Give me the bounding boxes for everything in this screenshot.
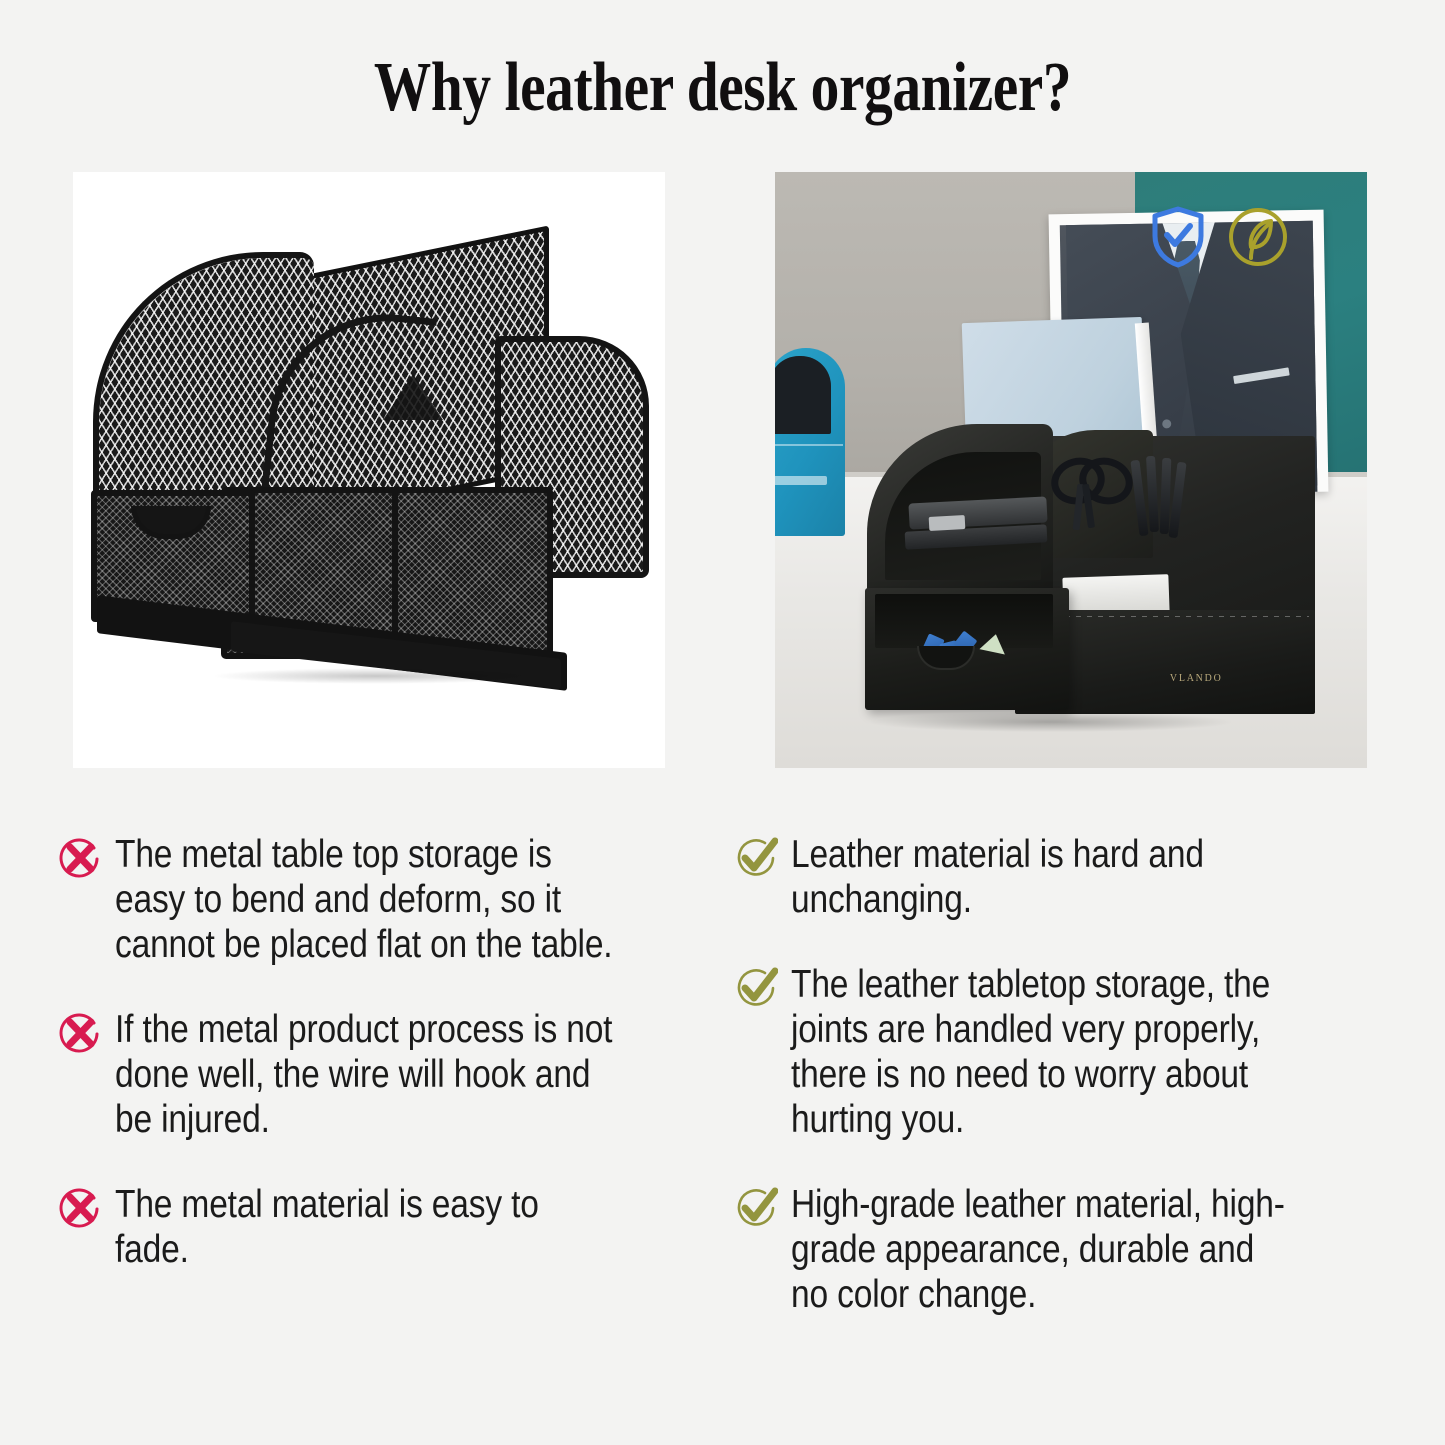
secondary-teal-organizer bbox=[775, 348, 845, 536]
check-icon bbox=[734, 1186, 778, 1230]
leather-organizer-scene: VLANDO bbox=[775, 172, 1367, 768]
mesh-shadow bbox=[211, 668, 541, 684]
pen bbox=[1168, 462, 1186, 539]
cross-icon bbox=[58, 1186, 102, 1230]
list-item-text: The metal material is easy to fade. bbox=[115, 1182, 616, 1272]
organizer-shadow bbox=[871, 712, 1231, 732]
cross-icon bbox=[58, 836, 102, 880]
check-icon bbox=[734, 966, 778, 1010]
cons-column: The metal table top storage is easy to b… bbox=[58, 832, 698, 1312]
list-item-text: The leather tabletop storage, the joints… bbox=[791, 962, 1292, 1142]
pens-group bbox=[1135, 456, 1191, 534]
list-item: The metal table top storage is easy to b… bbox=[58, 832, 698, 967]
stapler-staples bbox=[929, 515, 966, 531]
mesh-drawer-handle-notch bbox=[131, 506, 211, 539]
list-item: The leather tabletop storage, the joints… bbox=[734, 962, 1374, 1142]
leather-organizer: VLANDO bbox=[867, 424, 1315, 724]
list-item-text: If the metal product process is not done… bbox=[115, 1007, 616, 1142]
teal-organizer-brand-emboss bbox=[775, 476, 827, 485]
leaf-eco-badge-icon bbox=[1227, 206, 1289, 268]
list-item: If the metal product process is not done… bbox=[58, 1007, 698, 1142]
page-title: Why leather desk organizer? bbox=[130, 46, 1315, 130]
organizer-drawer bbox=[865, 588, 1069, 710]
list-item: Leather material is hard and unchanging. bbox=[734, 832, 1374, 922]
shield-check-badge-icon bbox=[1150, 206, 1206, 268]
mesh-organizer-scene bbox=[73, 172, 665, 768]
teal-organizer-seam bbox=[775, 444, 843, 446]
list-item: High-grade leather material, high-grade … bbox=[734, 1182, 1374, 1317]
organizer-brand-emboss: VLANDO bbox=[1170, 672, 1223, 684]
list-item: The metal material is easy to fade. bbox=[58, 1182, 698, 1272]
comparison-columns: The metal table top storage is easy to b… bbox=[0, 832, 1445, 1392]
product-image-metal-mesh-organizer bbox=[73, 172, 665, 768]
mesh-organizer-illustration bbox=[91, 232, 647, 702]
pros-column: Leather material is hard and unchanging.… bbox=[734, 832, 1374, 1357]
teal-organizer-interior bbox=[775, 356, 831, 434]
product-image-leather-organizer: VLANDO bbox=[775, 172, 1367, 768]
list-item-text: High-grade leather material, high-grade … bbox=[791, 1182, 1292, 1317]
mesh-triangle-accent bbox=[383, 374, 443, 420]
cross-icon bbox=[58, 1011, 102, 1055]
drawer-handle-notch bbox=[917, 646, 975, 670]
check-icon bbox=[734, 836, 778, 880]
list-item-text: Leather material is hard and unchanging. bbox=[791, 832, 1292, 922]
pen bbox=[1146, 456, 1159, 532]
list-item-text: The metal table top storage is easy to b… bbox=[115, 832, 616, 967]
scissors bbox=[1053, 458, 1117, 522]
mesh-compartment-divider bbox=[392, 493, 398, 653]
infographic-page: Why leather desk organizer? bbox=[0, 0, 1445, 1445]
